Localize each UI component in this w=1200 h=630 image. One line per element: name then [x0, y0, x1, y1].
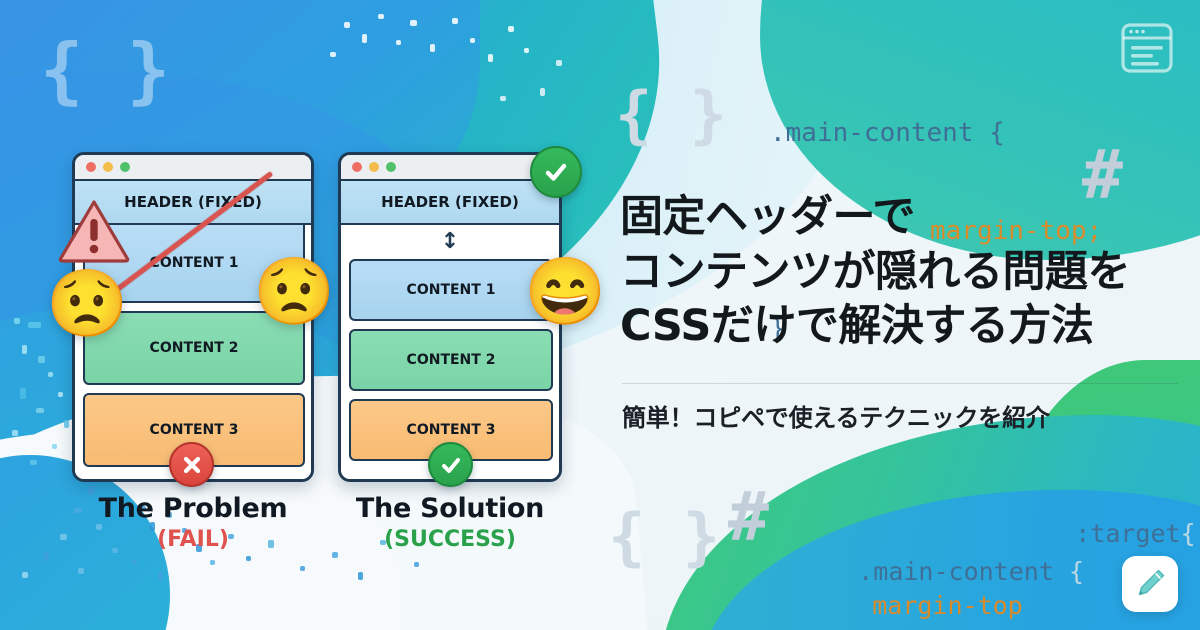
speckle-dot: [410, 20, 417, 26]
solution-check-icon-bottom: [428, 442, 473, 487]
problem-emoji-left: 😟: [46, 270, 128, 336]
og-image-canvas: { } { } { } # # .main-content { margin-t…: [0, 0, 1200, 630]
problem-emoji-right: 😟: [253, 258, 335, 324]
speckle-dot: [488, 54, 493, 62]
code-target-selector: :target: [1075, 519, 1180, 548]
speckle-dot: [36, 408, 44, 413]
problem-cross-icon: [169, 442, 214, 487]
solution-caption-main: The Solution: [330, 493, 570, 524]
speckle-dot: [64, 420, 69, 428]
problem-window-titlebar: [75, 155, 311, 181]
window-dot-red: [352, 162, 362, 172]
solution-window-titlebar: [341, 155, 559, 181]
brace-decoration-mid: { }: [615, 78, 727, 151]
title-line-1: 固定ヘッダーで: [620, 190, 1190, 245]
speckle-dot: [556, 60, 562, 66]
document-window-icon: [1120, 22, 1174, 79]
speckle-dot: [58, 392, 63, 397]
speckle-dot: [452, 18, 458, 24]
code-target-brace: {: [1181, 519, 1196, 548]
code-bottom-property: margin-top: [872, 591, 1023, 620]
brace-decoration-top-left: { }: [40, 28, 170, 112]
speckle-dot: [430, 44, 435, 52]
solution-block-content-2: CONTENT 2: [349, 329, 553, 391]
title-divider: [622, 383, 1178, 384]
window-dot-yellow: [103, 162, 113, 172]
speckle-dot: [30, 460, 37, 465]
speckle-dot: [210, 560, 215, 565]
solution-emoji: 😄: [524, 258, 606, 324]
speckle-dot: [78, 568, 84, 574]
speckle-dot: [44, 552, 49, 561]
solution-margin-gap-arrow: ↕: [341, 229, 559, 254]
speckle-dot: [48, 372, 53, 377]
speckle-dot: [508, 26, 514, 32]
window-dot-red: [86, 162, 96, 172]
speckle-dot: [132, 560, 137, 565]
speckle-dot: [396, 40, 401, 45]
window-dot-yellow: [369, 162, 379, 172]
speckle-dot: [52, 444, 57, 449]
solution-caption: The Solution (SUCCESS): [330, 493, 570, 552]
speckle-dot: [414, 562, 419, 567]
speckle-dot: [22, 345, 27, 354]
title-line-3: CSSだけで解決する方法: [620, 299, 1190, 354]
speckle-dot: [470, 38, 475, 43]
speckle-dot: [12, 430, 18, 436]
window-dot-green: [386, 162, 396, 172]
speckle-dot: [158, 572, 163, 580]
speckle-dot: [332, 552, 338, 558]
speckle-dot: [22, 572, 28, 578]
speckle-dot: [28, 322, 41, 328]
solution-header-bar: HEADER (FIXED): [341, 181, 559, 225]
problem-caption: The Problem (FAIL): [72, 493, 314, 552]
solution-caption-sub: (SUCCESS): [330, 527, 570, 552]
speckle-dot: [14, 318, 20, 324]
speckle-dot: [20, 388, 26, 399]
speckle-dot: [358, 572, 363, 580]
problem-caption-sub: (FAIL): [72, 527, 314, 552]
speckle-dot: [378, 14, 384, 19]
speckle-dot: [524, 48, 529, 53]
solution-block-content-1: CONTENT 1: [349, 259, 553, 321]
speckle-dot: [38, 356, 45, 363]
code-snippet-property: margin-top: [812, 562, 1023, 630]
page-title: 固定ヘッダーで コンテンツが隠れる問題を CSSだけで解決する方法: [620, 190, 1190, 354]
brace-decoration-bottom-left: { }: [608, 500, 720, 573]
speckle-dot: [362, 34, 367, 43]
code-top-selector: .main-content {: [770, 118, 1005, 148]
speckle-dot: [540, 88, 545, 96]
speckle-dot: [246, 556, 251, 561]
speckle-dot: [60, 534, 67, 540]
speckle-dot: [344, 22, 350, 28]
code-main-brace: {: [1069, 557, 1084, 586]
hash-decoration-bottom: #: [728, 478, 769, 557]
speckle-dot: [500, 96, 506, 101]
problem-caption-main: The Problem: [72, 493, 314, 524]
window-dot-green: [120, 162, 130, 172]
page-subtitle: 簡単！コピペで使えるテクニックを紹介: [622, 398, 1200, 433]
title-line-2: コンテンツが隠れる問題を: [620, 245, 1190, 300]
warning-triangle-icon: [58, 198, 130, 269]
solution-check-icon-top: [530, 146, 582, 198]
speckle-dot: [300, 566, 305, 571]
speckle-dot: [330, 52, 336, 57]
